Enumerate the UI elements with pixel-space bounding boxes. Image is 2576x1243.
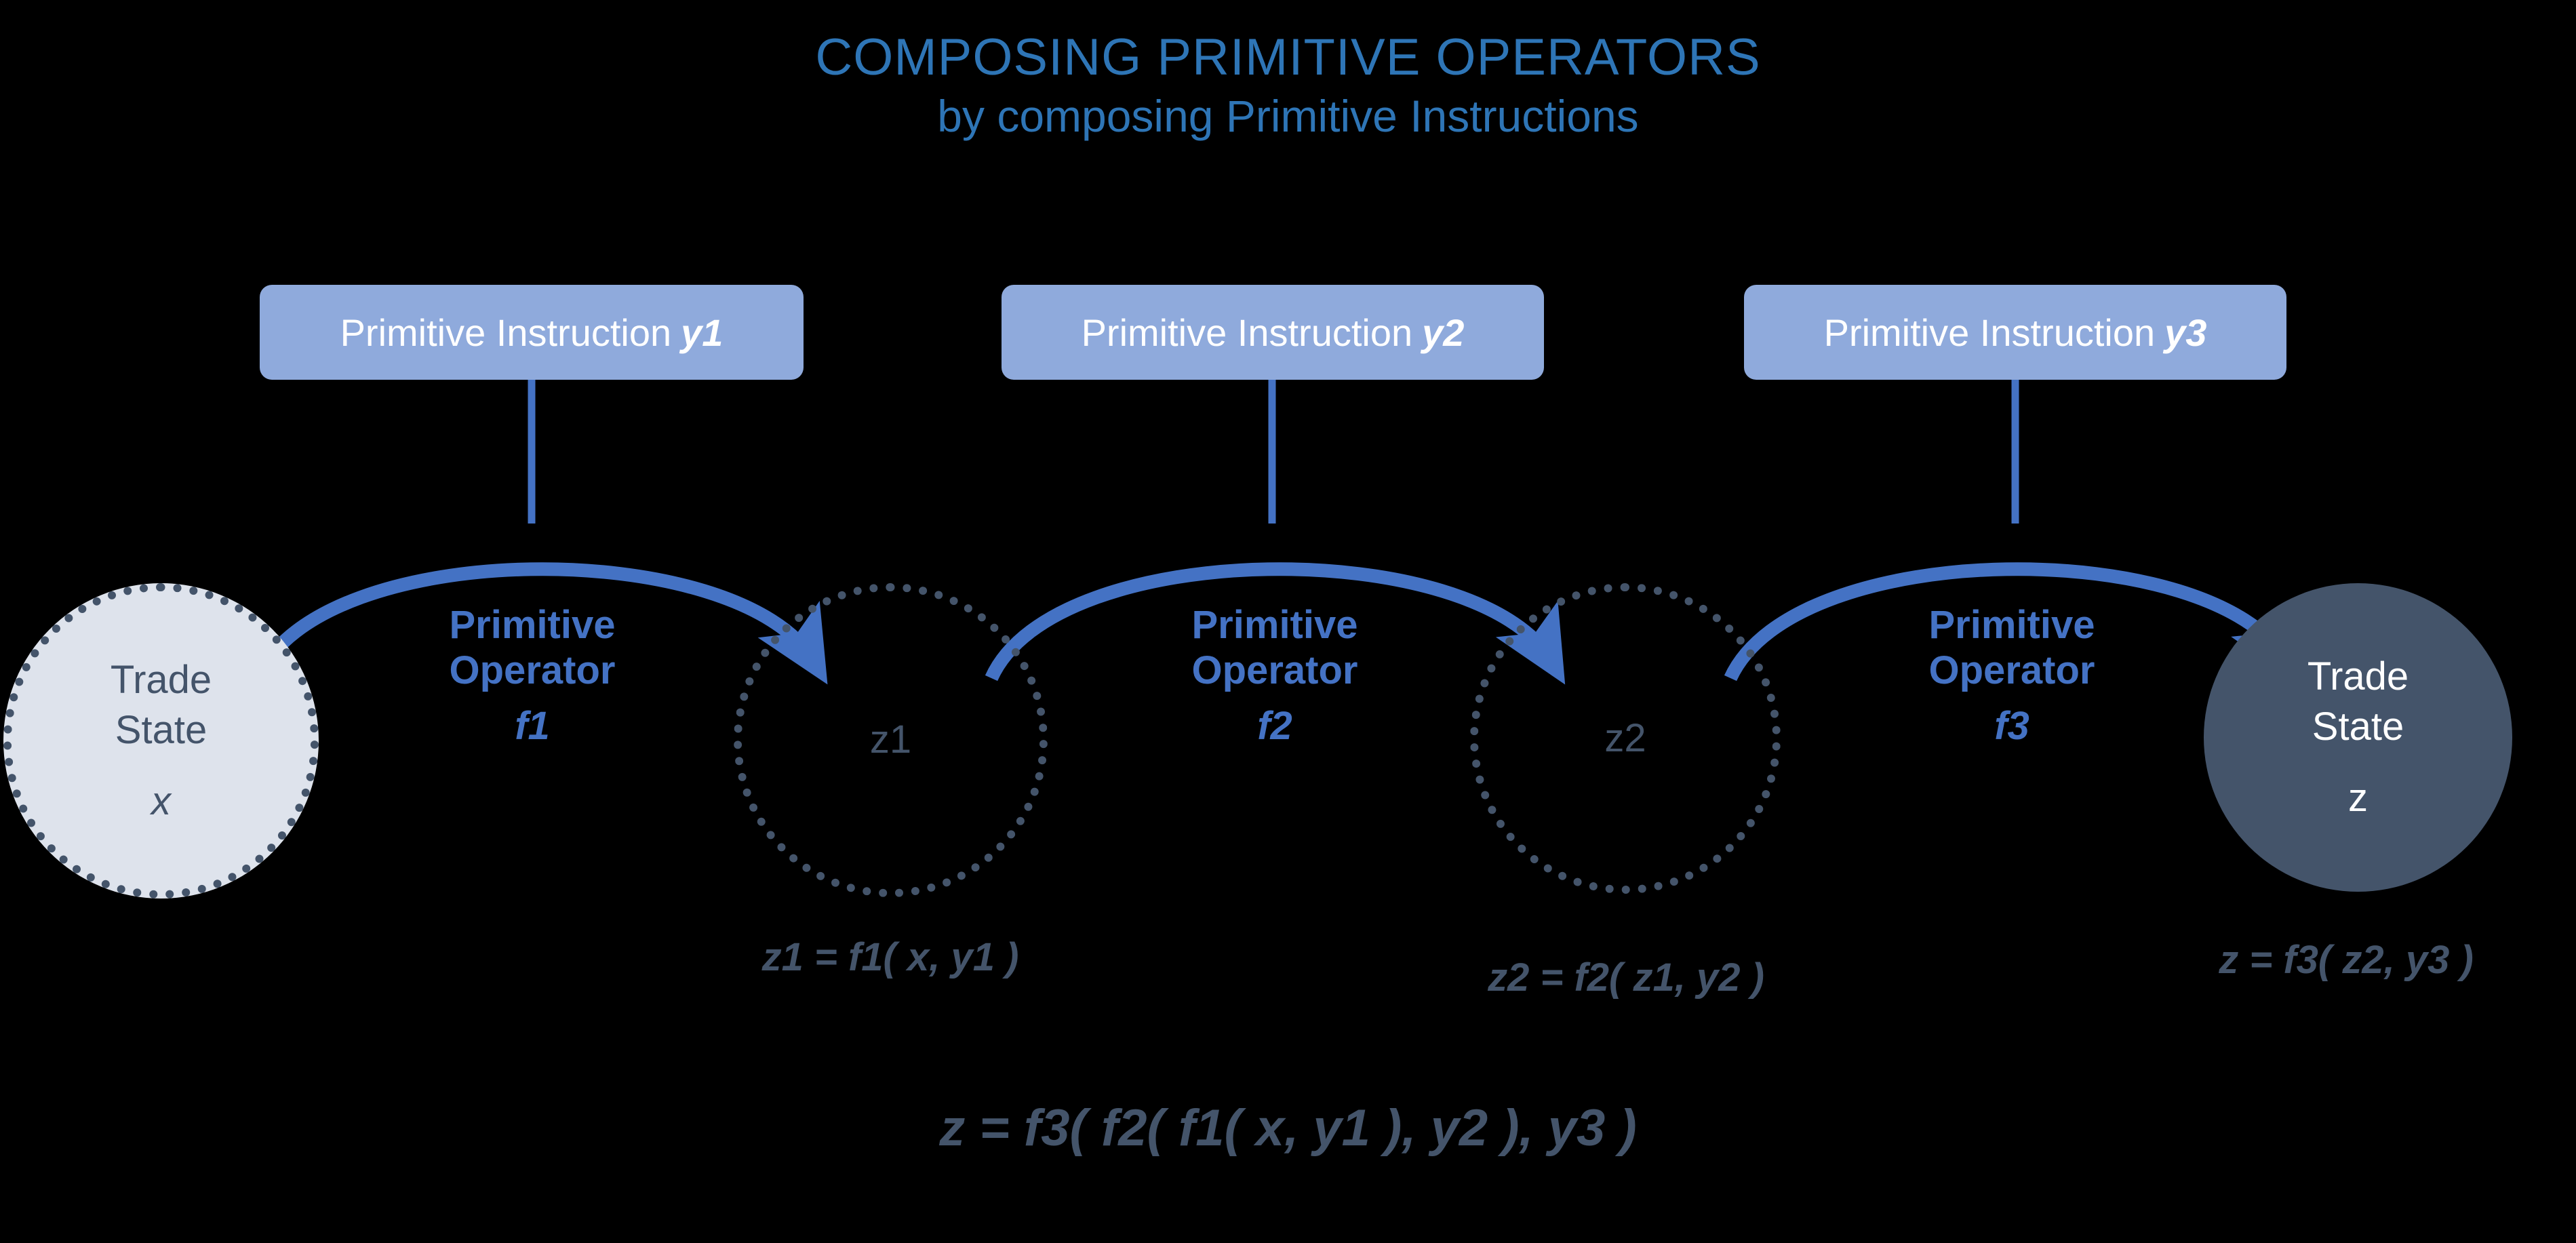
node-var-z2: z2 [1604,713,1646,764]
step-formula-z2: z2 = f2( z1, y2 ) [1423,955,1829,1000]
node-line-2-x: State [115,705,207,755]
title-block: COMPOSING PRIMITIVE OPERATORS by composi… [0,30,2576,142]
node-line-1-x: Trade [111,655,212,705]
operator-line-1-f1: Primitive [450,603,616,647]
operator-line-2-f3: Operator [1929,648,2095,692]
node-line-2-z: State [2312,702,2404,752]
diagram-canvas: COMPOSING PRIMITIVE OPERATORS by composi… [0,0,2576,1243]
node-trade-state-x[interactable]: Trade State x [3,583,319,899]
operator-fn-f2: f2 [1129,703,1421,749]
step-formula-z: z = f3( z2, y3 ) [2156,937,2536,983]
operator-fn-f1: f1 [387,703,678,749]
instruction-var-y3: y3 [2164,311,2206,355]
instruction-label-y1: Primitive Instruction [340,311,672,355]
instruction-box-y1[interactable]: Primitive Instruction y1 [260,285,804,380]
operator-line-2-f1: Operator [450,648,616,692]
operator-fn-f3: f3 [1866,703,2158,749]
step-formula-z1: z1 = f1( x, y1 ) [687,934,1094,980]
node-z2[interactable]: z2 [1470,583,1781,894]
node-var-z: z [2348,773,2368,823]
node-trade-state-z[interactable]: Trade State z [2204,583,2512,892]
instruction-var-y1: y1 [681,311,723,355]
node-var-z1: z1 [870,715,911,765]
node-z1[interactable]: z1 [734,583,1048,897]
node-line-1-z: Trade [2307,652,2409,702]
instruction-box-y2[interactable]: Primitive Instruction y2 [1002,285,1544,380]
page-title: COMPOSING PRIMITIVE OPERATORS [0,30,2576,85]
operator-line-1-f3: Primitive [1929,603,2095,647]
page-subtitle: by composing Primitive Instructions [0,91,2576,142]
node-var-x: x [151,776,171,827]
operator-label-f2: Primitive Operator f2 [1129,602,1421,749]
instruction-var-y2: y2 [1422,311,1464,355]
composite-formula: z = f3( f2( f1( x, y1 ), y2 ), y3 ) [0,1099,2576,1158]
operator-line-2-f2: Operator [1192,648,1358,692]
instruction-label-y3: Primitive Instruction [1824,311,2156,355]
operator-label-f1: Primitive Operator f1 [387,602,678,749]
instruction-box-y3[interactable]: Primitive Instruction y3 [1744,285,2286,380]
instruction-label-y2: Primitive Instruction [1082,311,1413,355]
operator-line-1-f2: Primitive [1192,603,1358,647]
operator-label-f3: Primitive Operator f3 [1866,602,2158,749]
